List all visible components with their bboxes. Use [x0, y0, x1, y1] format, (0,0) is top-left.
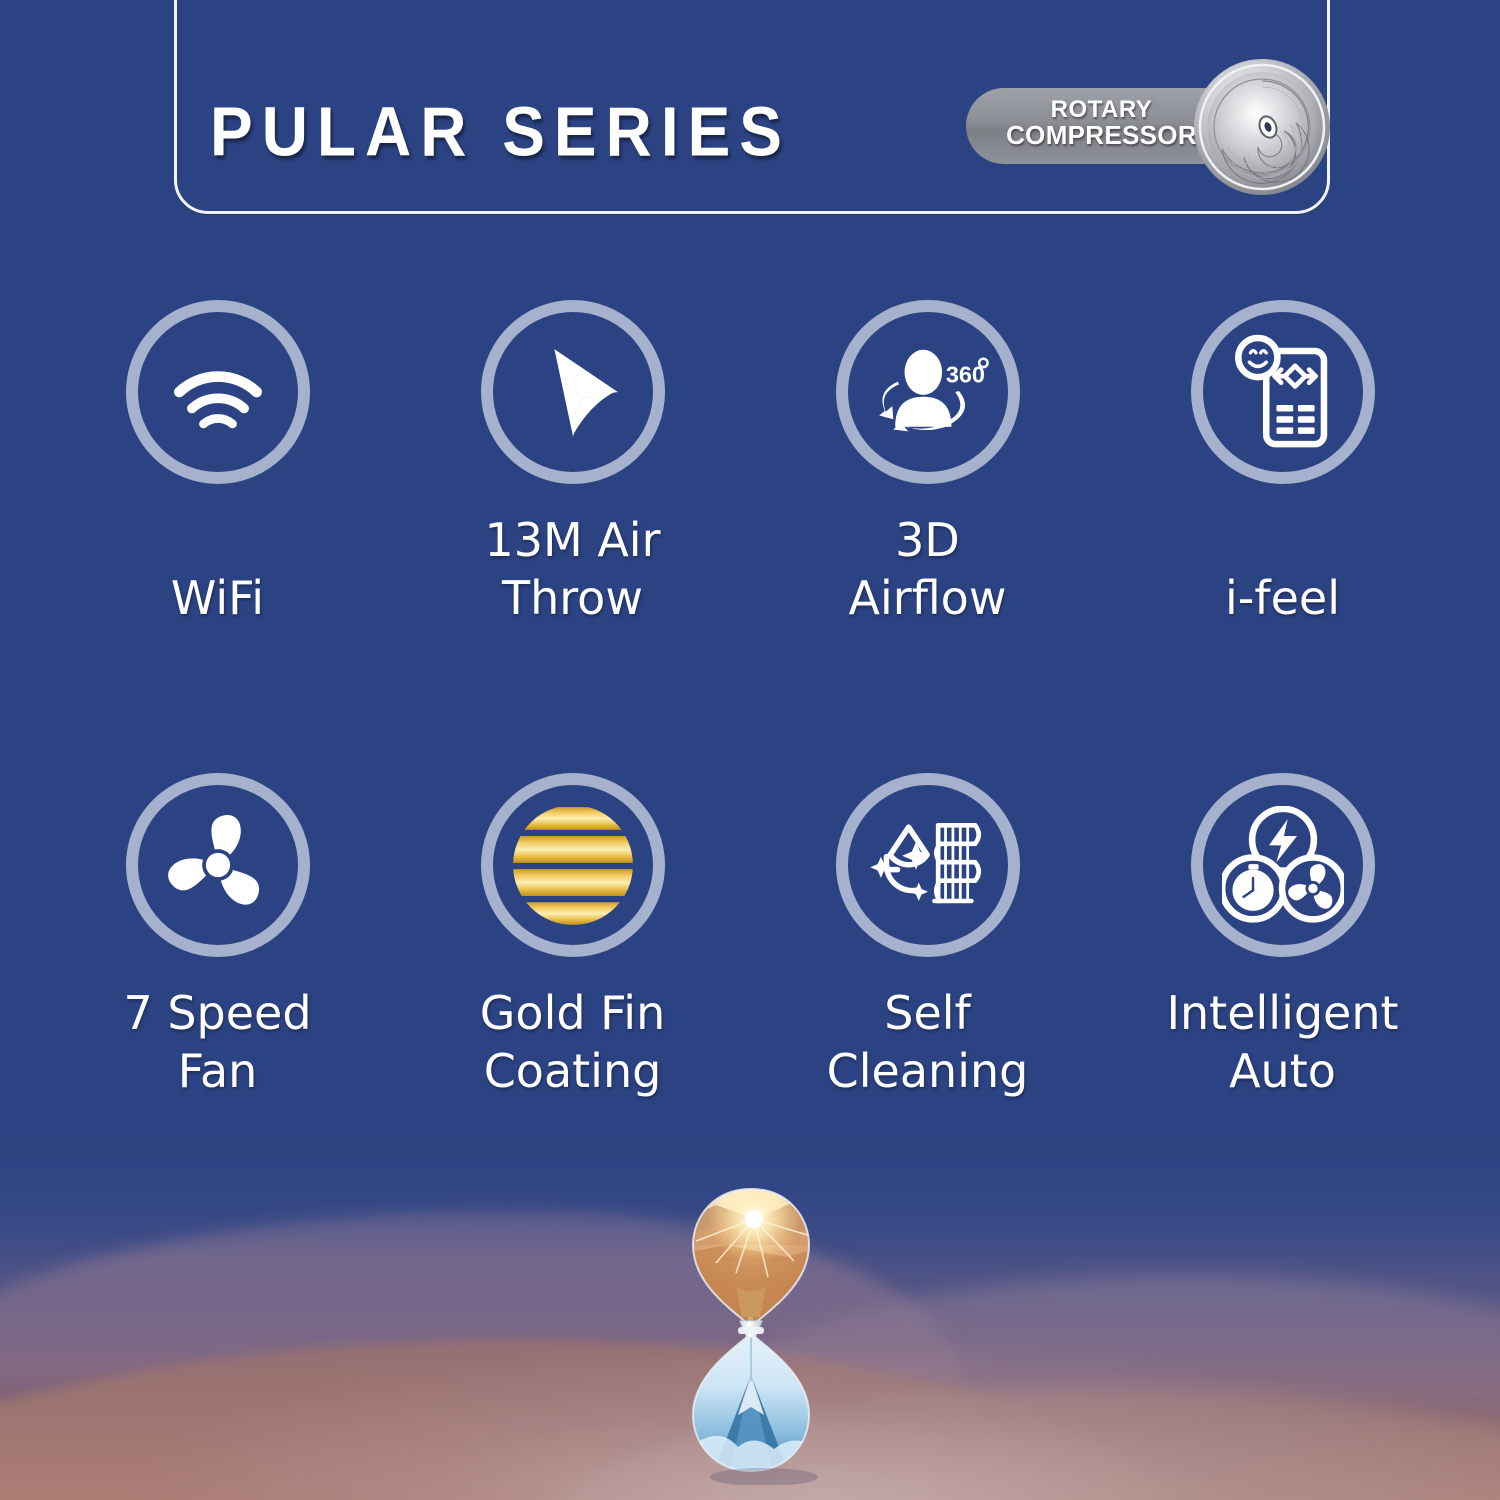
- rotary-compressor-badge-text: ROTARY COMPRESSOR: [994, 97, 1209, 149]
- fan-icon-ring: [126, 773, 310, 957]
- badge-line-2: COMPRESSOR: [994, 122, 1209, 149]
- feature-item-intelligent-auto: Intelligent Auto: [1105, 773, 1460, 1101]
- feature-grid: WiFi 13M Air Throw: [40, 300, 1460, 1101]
- self-cleaning-droplet-coil-icon: [868, 814, 988, 916]
- feature-item-air-throw: 13M Air Throw: [395, 300, 750, 628]
- feature-item-self-cleaning: Self Cleaning: [750, 773, 1105, 1101]
- feature-label-intelligent-auto: Intelligent Auto: [1166, 983, 1398, 1101]
- i-feel-icon-ring: [1191, 300, 1375, 484]
- feature-label-gold-fin: Gold Fin Coating: [480, 983, 665, 1101]
- hourglass-desert-mountain-image: [676, 1175, 826, 1485]
- air-throw-arrow-icon: [517, 336, 629, 448]
- feature-item-i-feel: i-feel: [1105, 300, 1460, 628]
- rotary-compressor-coil-icon: [1192, 57, 1332, 197]
- banner-root: PULAR SERIES ROTARY COMPRESSOR: [0, 0, 1500, 1500]
- feature-item-wifi: WiFi: [40, 300, 395, 628]
- feature-label-7-speed-fan: 7 Speed Fan: [123, 983, 311, 1101]
- gold-fin-stripes-icon: [511, 803, 635, 927]
- badge-line-1: ROTARY: [994, 97, 1209, 122]
- i-feel-remote-smiley-icon: [1229, 334, 1337, 450]
- page-title: PULAR SERIES: [210, 92, 791, 172]
- gold-fin-icon-ring: [481, 773, 665, 957]
- air-throw-icon-ring: [481, 300, 665, 484]
- feature-label-3d-airflow: 3D Airflow: [849, 510, 1007, 628]
- intelligent-auto-trio-icon: [1222, 806, 1344, 924]
- intelligent-auto-icon-ring: [1191, 773, 1375, 957]
- 360-airflow-person-icon: 360: [867, 340, 989, 444]
- dune-near-left: [0, 1340, 1170, 1500]
- feature-item-gold-fin: Gold Fin Coating: [395, 773, 750, 1101]
- fan-blade-icon: [162, 809, 274, 921]
- feature-label-self-cleaning: Self Cleaning: [827, 983, 1029, 1101]
- self-cleaning-icon-ring: [836, 773, 1020, 957]
- dune-far-right: [720, 1275, 1500, 1405]
- feature-label-wifi: WiFi: [171, 510, 264, 628]
- wifi-icon-ring: [126, 300, 310, 484]
- feature-label-i-feel: i-feel: [1225, 510, 1340, 628]
- airflow-icon-ring: 360: [836, 300, 1020, 484]
- feature-label-air-throw: 13M Air Throw: [484, 510, 660, 628]
- feature-item-3d-airflow: 360 3D Airflow: [750, 300, 1105, 628]
- feature-item-7-speed-fan: 7 Speed Fan: [40, 773, 395, 1101]
- wifi-icon: [160, 334, 276, 450]
